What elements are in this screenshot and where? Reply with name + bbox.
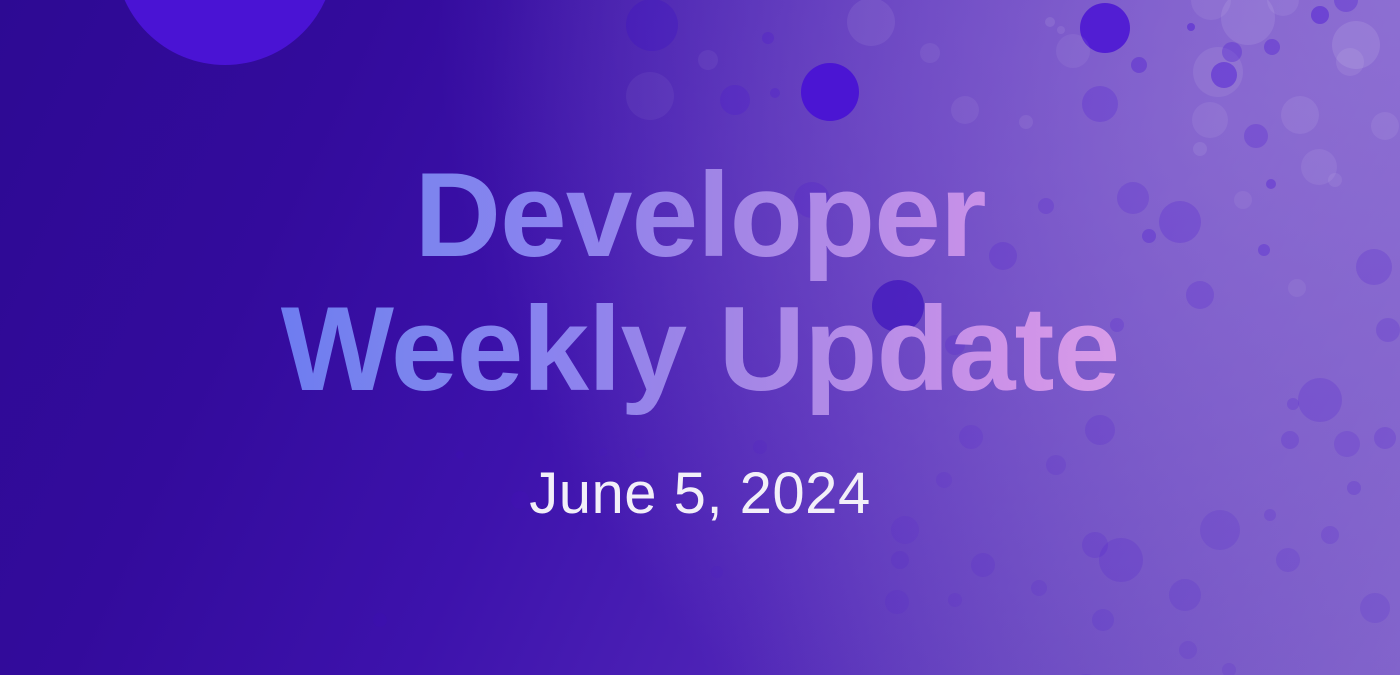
headline-line-2: Weekly Update [281, 282, 1119, 416]
banner-headline: Developer Weekly Update [281, 148, 1119, 417]
banner-content: Developer Weekly Update June 5, 2024 [0, 0, 1400, 675]
headline-line-1: Developer [281, 148, 1119, 282]
banner-date: June 5, 2024 [529, 460, 870, 527]
weekly-update-banner: Developer Weekly Update June 5, 2024 [0, 0, 1400, 675]
